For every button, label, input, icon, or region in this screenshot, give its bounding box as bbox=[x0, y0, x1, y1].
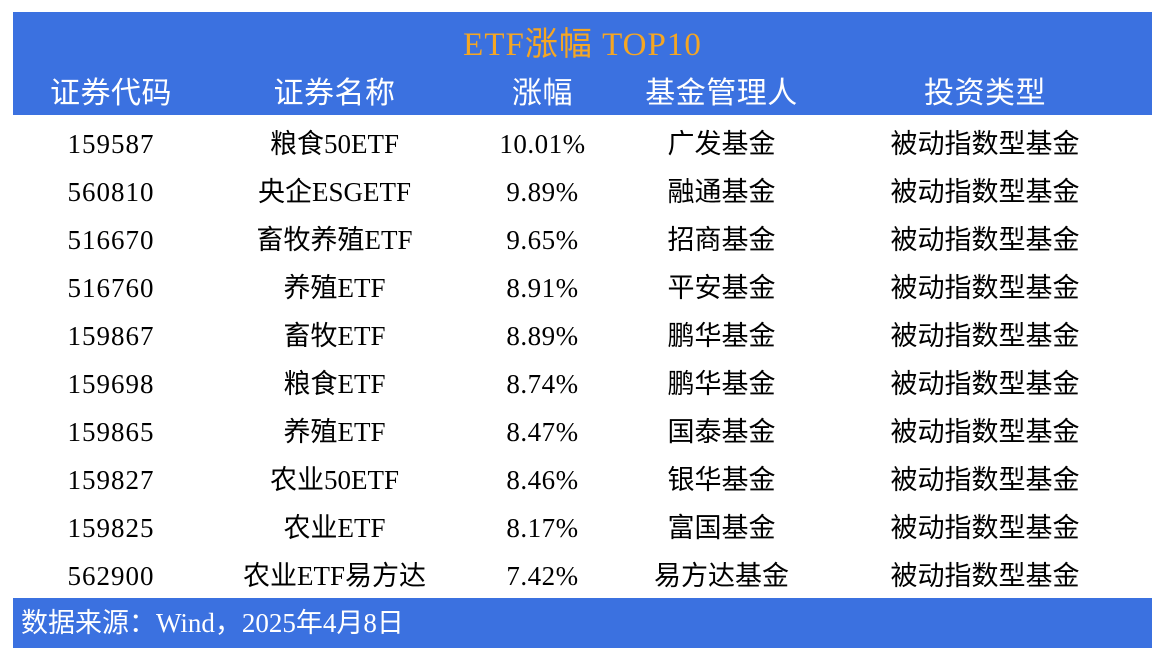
column-header-name: 证券名称 bbox=[209, 77, 460, 111]
cell-manager: 招商基金 bbox=[625, 224, 818, 256]
cell-code: 159825 bbox=[13, 512, 209, 544]
table-row: 560810 央企ESGETF 9.89% 融通基金 被动指数型基金 bbox=[13, 168, 1152, 216]
cell-code: 159827 bbox=[13, 464, 209, 496]
cell-code: 562900 bbox=[13, 560, 209, 592]
cell-change: 9.89% bbox=[460, 176, 625, 208]
cell-name: 农业ETF易方达 bbox=[209, 560, 460, 592]
cell-type: 被动指数型基金 bbox=[818, 320, 1152, 352]
column-header-code: 证券代码 bbox=[13, 77, 209, 111]
cell-manager: 富国基金 bbox=[625, 512, 818, 544]
footer-bar: 数据来源：Wind，2025年4月8日 bbox=[13, 598, 1152, 648]
cell-name: 粮食50ETF bbox=[209, 128, 460, 160]
cell-change: 8.46% bbox=[460, 464, 625, 496]
cell-code: 516670 bbox=[13, 224, 209, 256]
cell-manager: 广发基金 bbox=[625, 128, 818, 160]
cell-manager: 融通基金 bbox=[625, 176, 818, 208]
table-row: 159825 农业ETF 8.17% 富国基金 被动指数型基金 bbox=[13, 504, 1152, 552]
cell-name: 养殖ETF bbox=[209, 272, 460, 304]
table-row: 159827 农业50ETF 8.46% 银华基金 被动指数型基金 bbox=[13, 456, 1152, 504]
column-header-change: 涨幅 bbox=[460, 77, 625, 111]
cell-change: 7.42% bbox=[460, 560, 625, 592]
cell-name: 农业ETF bbox=[209, 512, 460, 544]
cell-manager: 平安基金 bbox=[625, 272, 818, 304]
etf-ranking-card: ETF涨幅 TOP10 证券代码 证券名称 涨幅 基金管理人 投资类型 1595… bbox=[0, 0, 1166, 662]
cell-type: 被动指数型基金 bbox=[818, 224, 1152, 256]
cell-manager: 易方达基金 bbox=[625, 560, 818, 592]
table-row: 159865 养殖ETF 8.47% 国泰基金 被动指数型基金 bbox=[13, 408, 1152, 456]
cell-code: 516760 bbox=[13, 272, 209, 304]
cell-manager: 国泰基金 bbox=[625, 416, 818, 448]
data-source-label: 数据来源：Wind，2025年4月8日 bbox=[13, 607, 404, 639]
cell-type: 被动指数型基金 bbox=[818, 176, 1152, 208]
cell-code: 560810 bbox=[13, 176, 209, 208]
cell-change: 8.89% bbox=[460, 320, 625, 352]
cell-name: 畜牧养殖ETF bbox=[209, 224, 460, 256]
table-row: 159867 畜牧ETF 8.89% 鹏华基金 被动指数型基金 bbox=[13, 312, 1152, 360]
table-row: 516670 畜牧养殖ETF 9.65% 招商基金 被动指数型基金 bbox=[13, 216, 1152, 264]
cell-type: 被动指数型基金 bbox=[818, 416, 1152, 448]
cell-change: 8.17% bbox=[460, 512, 625, 544]
cell-manager: 鹏华基金 bbox=[625, 320, 818, 352]
table-row: 159587 粮食50ETF 10.01% 广发基金 被动指数型基金 bbox=[13, 120, 1152, 168]
cell-type: 被动指数型基金 bbox=[818, 128, 1152, 160]
cell-type: 被动指数型基金 bbox=[818, 368, 1152, 400]
cell-name: 农业50ETF bbox=[209, 464, 460, 496]
cell-change: 10.01% bbox=[460, 128, 625, 160]
column-header-manager: 基金管理人 bbox=[625, 77, 818, 111]
cell-name: 养殖ETF bbox=[209, 416, 460, 448]
table-row: 562900 农业ETF易方达 7.42% 易方达基金 被动指数型基金 bbox=[13, 552, 1152, 600]
page-title: ETF涨幅 TOP10 bbox=[13, 26, 1152, 64]
cell-code: 159587 bbox=[13, 128, 209, 160]
cell-code: 159698 bbox=[13, 368, 209, 400]
cell-change: 8.91% bbox=[460, 272, 625, 304]
table-column-header-row: 证券代码 证券名称 涨幅 基金管理人 投资类型 bbox=[13, 72, 1152, 115]
cell-change: 8.47% bbox=[460, 416, 625, 448]
cell-manager: 鹏华基金 bbox=[625, 368, 818, 400]
cell-name: 畜牧ETF bbox=[209, 320, 460, 352]
cell-type: 被动指数型基金 bbox=[818, 560, 1152, 592]
cell-name: 央企ESGETF bbox=[209, 176, 460, 208]
cell-type: 被动指数型基金 bbox=[818, 272, 1152, 304]
cell-type: 被动指数型基金 bbox=[818, 512, 1152, 544]
cell-change: 8.74% bbox=[460, 368, 625, 400]
cell-code: 159865 bbox=[13, 416, 209, 448]
table-row: 159698 粮食ETF 8.74% 鹏华基金 被动指数型基金 bbox=[13, 360, 1152, 408]
table-row: 516760 养殖ETF 8.91% 平安基金 被动指数型基金 bbox=[13, 264, 1152, 312]
cell-code: 159867 bbox=[13, 320, 209, 352]
cell-change: 9.65% bbox=[460, 224, 625, 256]
cell-manager: 银华基金 bbox=[625, 464, 818, 496]
cell-name: 粮食ETF bbox=[209, 368, 460, 400]
cell-type: 被动指数型基金 bbox=[818, 464, 1152, 496]
column-header-type: 投资类型 bbox=[818, 77, 1152, 111]
